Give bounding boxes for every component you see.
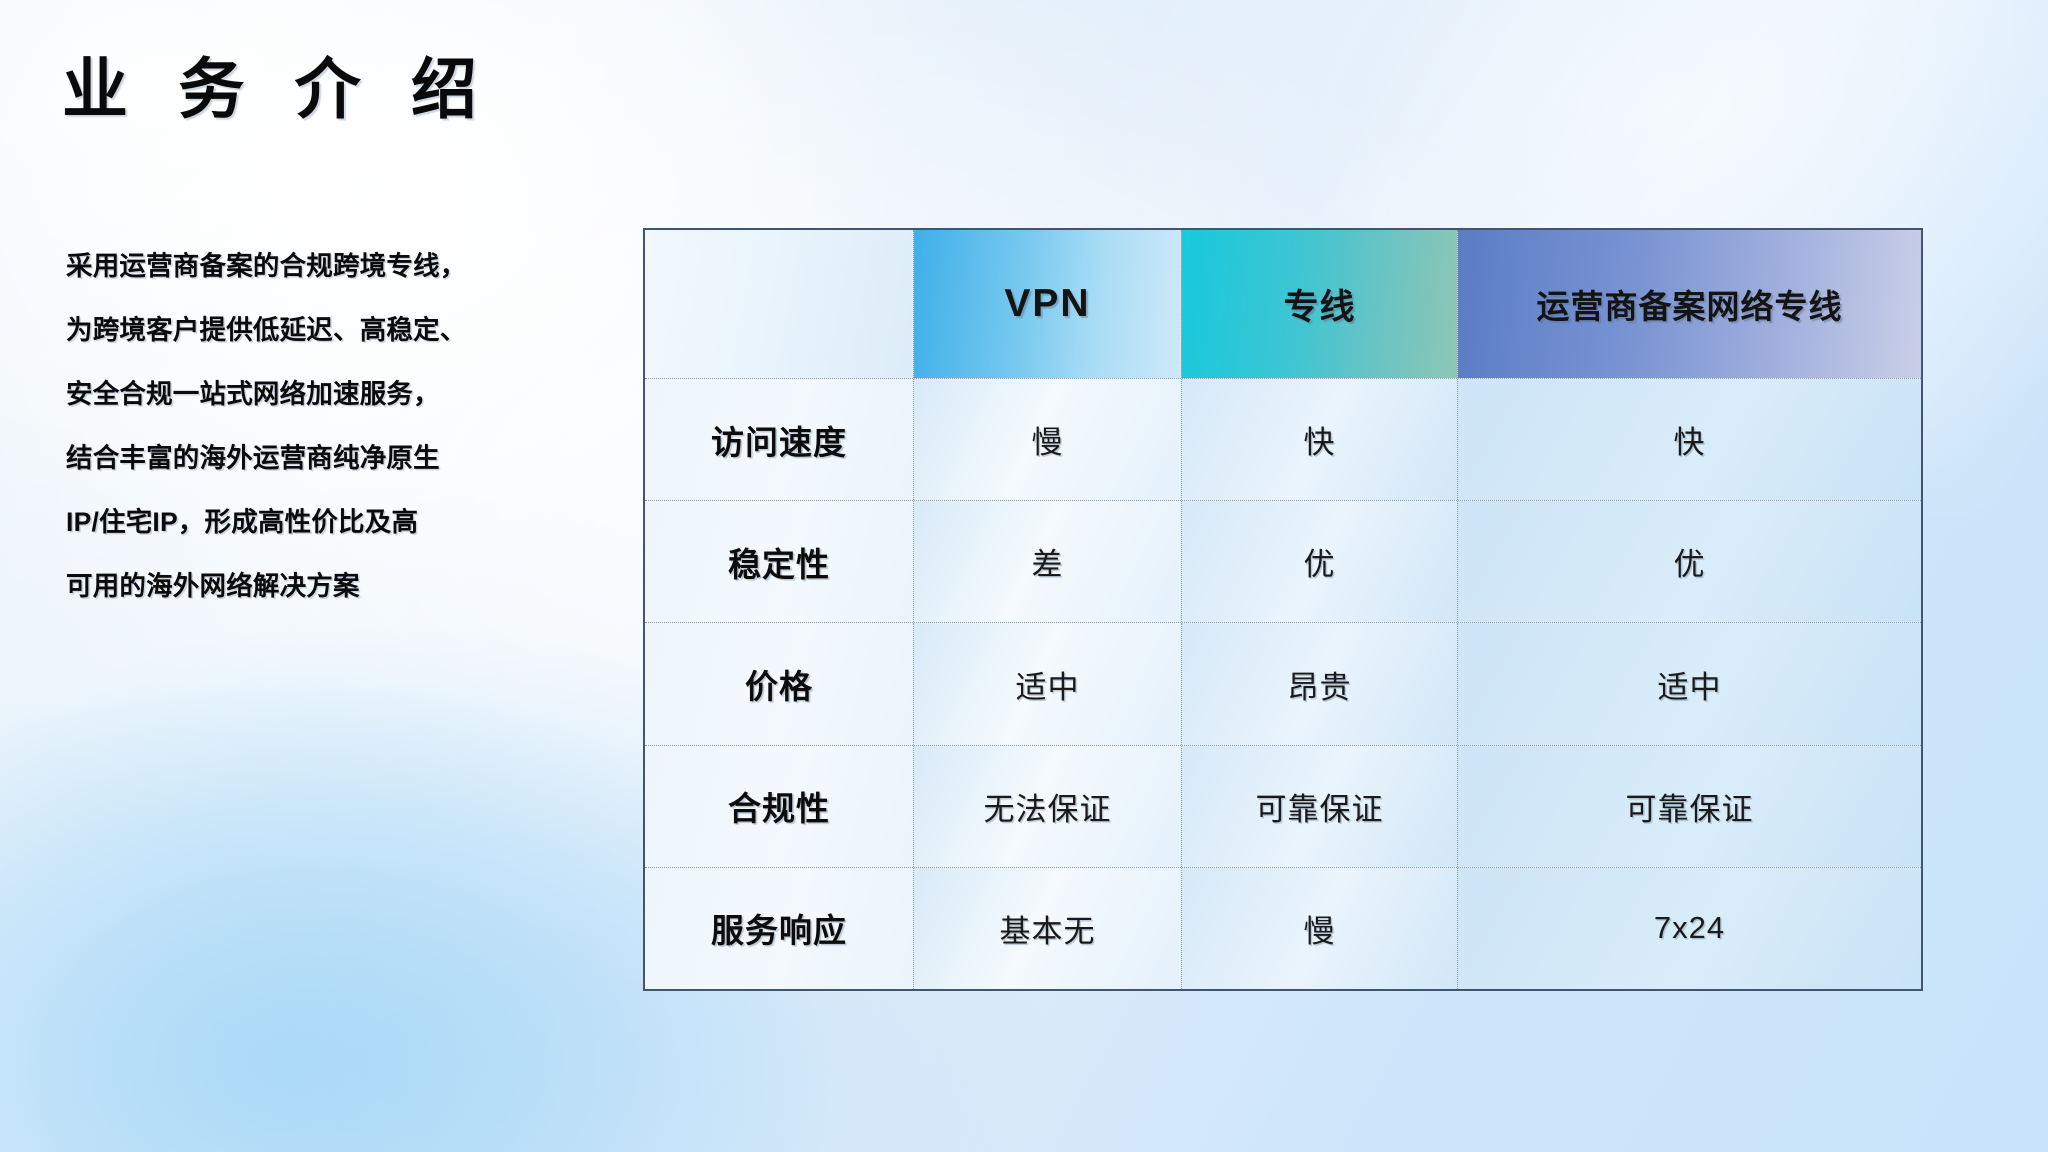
row-label-stability: 稳定性 (645, 501, 913, 622)
page-title: 业 务 介 绍 (62, 56, 493, 122)
table-row: 服务响应 基本无 慢 7x24 (645, 867, 1921, 989)
table-header-dedicated-line: 专线 (1181, 230, 1457, 378)
table-row: 价格 适中 昂贵 适中 (645, 622, 1921, 744)
row-label-text: 访问速度 (711, 416, 847, 464)
table-header-operator-line: 运营商备案网络专线 (1457, 230, 1921, 378)
table-row: 稳定性 差 优 优 (645, 500, 1921, 622)
intro-line-6: 可用的海外网络解决方案 (66, 554, 626, 618)
cell-price-dedicated: 昂贵 (1181, 623, 1457, 744)
row-label-service-response: 服务响应 (645, 868, 913, 989)
cell-value: 无法保证 (984, 784, 1112, 829)
cell-price-vpn: 适中 (913, 623, 1181, 744)
row-label-text: 合规性 (728, 782, 830, 830)
cell-value: 适中 (1016, 662, 1080, 707)
intro-line-2: 为跨境客户提供低延迟、高稳定、 (66, 298, 626, 362)
cell-value: 慢 (1304, 906, 1336, 951)
cell-value: 快 (1674, 417, 1706, 462)
cell-value: 可靠保证 (1256, 784, 1384, 829)
row-label-access-speed: 访问速度 (645, 379, 913, 500)
row-label-price: 价格 (645, 623, 913, 744)
cell-stability-vpn: 差 (913, 501, 1181, 622)
cell-value: 适中 (1658, 662, 1722, 707)
cell-value: 昂贵 (1288, 662, 1352, 707)
cell-stability-operator: 优 (1457, 501, 1921, 622)
row-label-text: 服务响应 (711, 904, 847, 952)
cell-access-speed-vpn: 慢 (913, 379, 1181, 500)
slide-canvas: 业 务 介 绍 采用运营商备案的合规跨境专线， 为跨境客户提供低延迟、高稳定、 … (0, 0, 2048, 1152)
table-row: 访问速度 慢 快 快 (645, 378, 1921, 500)
cell-access-speed-dedicated: 快 (1181, 379, 1457, 500)
intro-line-1: 采用运营商备案的合规跨境专线， (66, 234, 626, 298)
table-header-corner (645, 230, 913, 378)
cell-access-speed-operator: 快 (1457, 379, 1921, 500)
intro-line-4: 结合丰富的海外运营商纯净原生 (66, 426, 626, 490)
intro-paragraph: 采用运营商备案的合规跨境专线， 为跨境客户提供低延迟、高稳定、 安全合规一站式网… (66, 234, 626, 618)
cell-service-response-dedicated: 慢 (1181, 868, 1457, 989)
cell-service-response-vpn: 基本无 (913, 868, 1181, 989)
row-label-text: 价格 (745, 660, 813, 708)
cell-value: 快 (1304, 417, 1336, 462)
row-label-compliance: 合规性 (645, 746, 913, 867)
cell-compliance-dedicated: 可靠保证 (1181, 746, 1457, 867)
cell-stability-dedicated: 优 (1181, 501, 1457, 622)
cell-value: 优 (1304, 539, 1336, 584)
cell-value: 差 (1032, 539, 1064, 584)
table-header-row: VPN 专线 运营商备案网络专线 (645, 230, 1921, 378)
table-header-vpn: VPN (913, 230, 1181, 378)
cell-value: 慢 (1032, 417, 1064, 462)
cell-value: 优 (1674, 539, 1706, 584)
comparison-table: VPN 专线 运营商备案网络专线 访问速度 慢 快 快 稳定性 (643, 228, 1923, 991)
intro-line-5: IP/住宅IP，形成高性价比及高 (66, 490, 626, 554)
cell-compliance-vpn: 无法保证 (913, 746, 1181, 867)
cell-value: 基本无 (1000, 906, 1096, 951)
cell-service-response-operator: 7x24 (1457, 868, 1921, 989)
table-row: 合规性 无法保证 可靠保证 可靠保证 (645, 745, 1921, 867)
cell-value: 7x24 (1654, 910, 1725, 946)
cell-compliance-operator: 可靠保证 (1457, 746, 1921, 867)
row-label-text: 稳定性 (728, 538, 830, 586)
intro-line-3: 安全合规一站式网络加速服务， (66, 362, 626, 426)
cell-price-operator: 适中 (1457, 623, 1921, 744)
cell-value: 可靠保证 (1626, 784, 1754, 829)
